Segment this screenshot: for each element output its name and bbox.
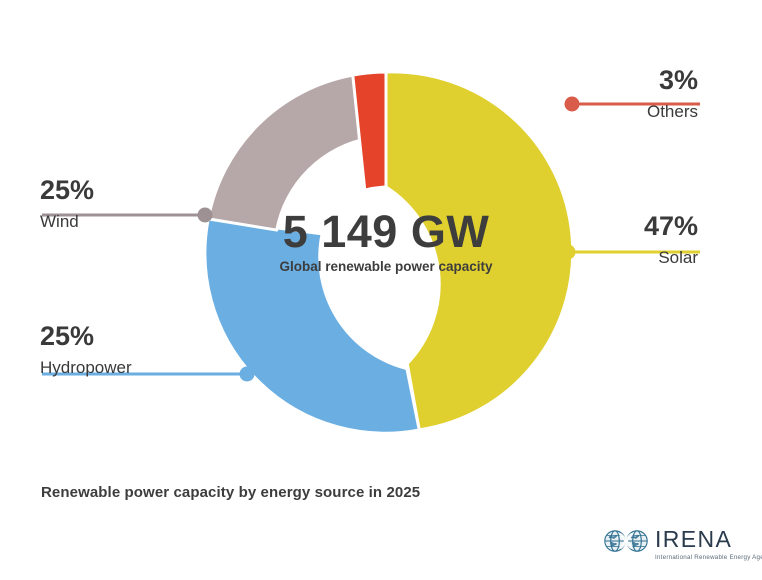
irena-logo: IRENA International Renewable Energy Age… xyxy=(603,528,743,570)
callout-hydropower[interactable]: 25% Hydropower xyxy=(40,322,240,378)
callout-hydropower-percent: 25% xyxy=(40,322,240,352)
callout-solar-percent: 47% xyxy=(608,212,698,242)
donut-segment-wind[interactable] xyxy=(208,75,369,230)
logo-tagline: International Renewable Energy Agency xyxy=(655,554,762,561)
logo-text-block: IRENA International Renewable Energy Age… xyxy=(655,528,762,561)
donut-segment-solar[interactable] xyxy=(386,72,573,430)
logo-wordmark: IRENA xyxy=(655,528,732,551)
callout-wind[interactable]: 25% Wind xyxy=(40,176,210,232)
donut-segments xyxy=(205,72,573,433)
donut-segment-others[interactable] xyxy=(353,72,386,190)
callout-others-label: Others xyxy=(608,101,698,122)
callout-solar-label: Solar xyxy=(608,247,698,268)
callout-others[interactable]: 3% Others xyxy=(608,66,698,122)
donut-chart: 5 149 GW Global renewable power capacity… xyxy=(0,0,762,470)
callout-solar[interactable]: 47% Solar xyxy=(608,212,698,268)
callout-wind-percent: 25% xyxy=(40,176,210,206)
globe-icon xyxy=(603,529,649,558)
chart-caption: Renewable power capacity by energy sourc… xyxy=(41,484,420,501)
infographic-canvas: 5 149 GW Global renewable power capacity… xyxy=(0,0,762,580)
leader-dot-solar xyxy=(561,245,576,260)
leader-dot-others xyxy=(565,97,580,112)
leader-dot-hydropower xyxy=(240,367,255,382)
callout-wind-label: Wind xyxy=(40,211,210,232)
callout-hydropower-label: Hydropower xyxy=(40,357,240,378)
callout-others-percent: 3% xyxy=(608,66,698,96)
